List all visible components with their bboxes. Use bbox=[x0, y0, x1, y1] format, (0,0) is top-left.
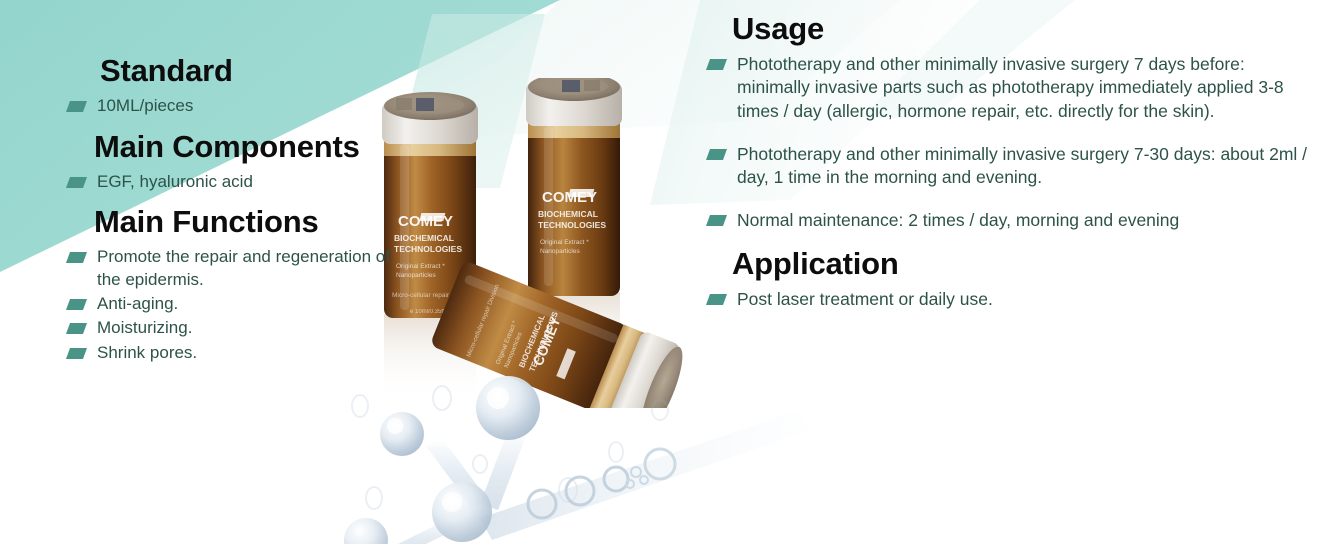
svg-text:Original Extract *: Original Extract * bbox=[540, 239, 589, 246]
sphere-corner bbox=[344, 518, 388, 544]
list-item: Normal maintenance: 2 times / day, morni… bbox=[708, 209, 1308, 232]
bullet-marker-icon bbox=[706, 149, 727, 160]
heading-standard: Standard bbox=[100, 54, 408, 88]
bullet-marker-icon bbox=[706, 294, 727, 305]
sphere-bottom bbox=[432, 482, 492, 542]
molecule-svg bbox=[330, 368, 850, 544]
bullet-marker-icon bbox=[66, 299, 87, 310]
list-item: Moisturizing. bbox=[68, 317, 408, 339]
svg-text:TECHNOLOGIES: TECHNOLOGIES bbox=[538, 220, 606, 230]
right-text-column: Usage Phototherapy and other minimally i… bbox=[708, 12, 1308, 311]
bullet-marker-icon bbox=[706, 215, 727, 226]
bullet-marker-icon bbox=[66, 348, 87, 359]
product-vials-photo: COMEY BIOCHEMICAL TECHNOLOGIES Original … bbox=[372, 78, 722, 408]
bullet-marker-icon bbox=[66, 323, 87, 334]
list-item-label: Anti-aging. bbox=[97, 293, 178, 315]
list-item-label: Post laser treatment or daily use. bbox=[737, 288, 993, 311]
product-infographic-poster: COMEY BIOCHEMICAL TECHNOLOGIES Original … bbox=[0, 0, 1326, 544]
bullet-marker-icon bbox=[706, 59, 727, 70]
list-item: 10ML/pieces bbox=[68, 95, 408, 117]
list-item: Post laser treatment or daily use. bbox=[708, 288, 1308, 311]
left-text-column: Standard 10ML/pieces Main Components EGF… bbox=[68, 54, 408, 364]
list-item-label: Shrink pores. bbox=[97, 342, 197, 364]
svg-text:Nanoparticles: Nanoparticles bbox=[540, 248, 580, 255]
list-item: Anti-aging. bbox=[68, 293, 408, 315]
svg-text:BIOCHEMICAL: BIOCHEMICAL bbox=[538, 209, 598, 219]
list-item-label: Promote the repair and regeneration of t… bbox=[97, 246, 408, 291]
heading-main-functions: Main Functions bbox=[94, 205, 408, 239]
list-item-label: 10ML/pieces bbox=[97, 95, 193, 117]
bullet-marker-icon bbox=[66, 252, 87, 263]
list-item-label: Normal maintenance: 2 times / day, morni… bbox=[737, 209, 1179, 232]
list-item: Phototherapy and other minimally invasiv… bbox=[708, 143, 1308, 190]
list-item-label: Phototherapy and other minimally invasiv… bbox=[737, 53, 1308, 123]
sphere-large bbox=[476, 376, 540, 440]
list-item: Phototherapy and other minimally invasiv… bbox=[708, 53, 1308, 123]
sphere-medium bbox=[380, 412, 424, 456]
heading-usage: Usage bbox=[732, 12, 1308, 46]
heading-main-components: Main Components bbox=[94, 130, 408, 164]
list-item: EGF, hyaluronic acid bbox=[68, 171, 408, 193]
heading-application: Application bbox=[732, 247, 1308, 281]
list-item-label: EGF, hyaluronic acid bbox=[97, 171, 253, 193]
vial-right: COMEY BIOCHEMICAL TECHNOLOGIES Original … bbox=[526, 78, 622, 296]
list-item: Promote the repair and regeneration of t… bbox=[68, 246, 408, 291]
molecule-decoration bbox=[330, 368, 850, 544]
list-item-label: Moisturizing. bbox=[97, 317, 192, 339]
bullet-marker-icon bbox=[66, 177, 87, 188]
bullet-marker-icon bbox=[66, 101, 87, 112]
list-item: Shrink pores. bbox=[68, 342, 408, 364]
list-item-label: Phototherapy and other minimally invasiv… bbox=[737, 143, 1308, 190]
product-vials-svg: COMEY BIOCHEMICAL TECHNOLOGIES Original … bbox=[372, 78, 722, 408]
